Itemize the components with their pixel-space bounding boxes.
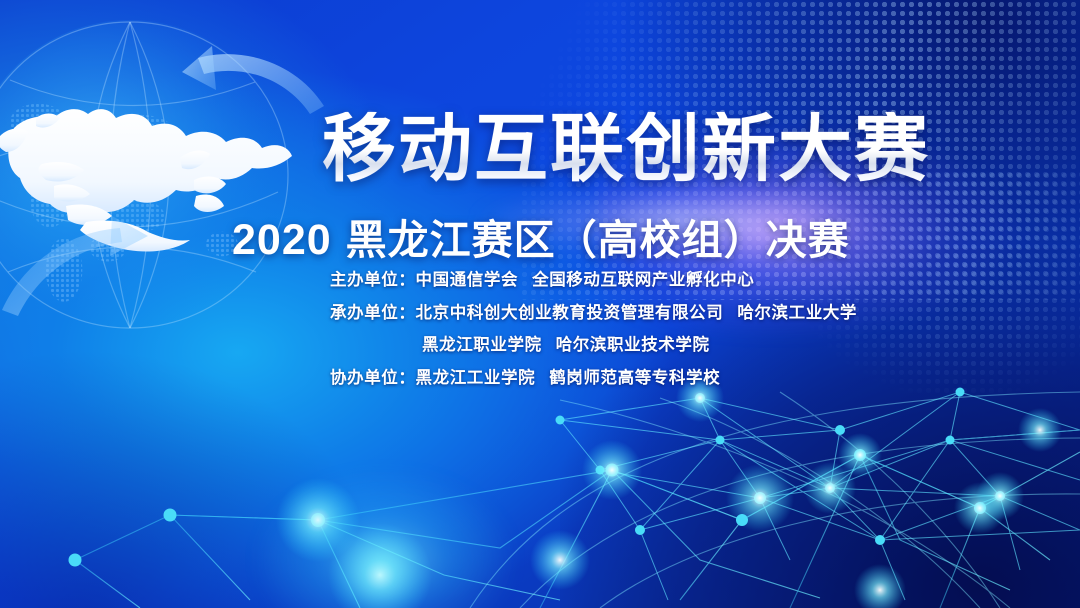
subtitle-line: 2020 黑龙江赛区（高校组）决赛 [232,206,850,266]
spacer [723,305,737,322]
organizer-entity-host-1: 中国通信学会 [416,272,519,289]
spacer [542,337,556,354]
organizer-row-supporter: 协办单位： 黑龙江工业学院 鹤岗师范高等专科学校 [330,370,857,387]
organizer-row-coorganizer-cont: 黑龙江职业学院 哈尔滨职业技术学院 [330,337,857,354]
organizer-row-coorganizer: 承办单位： 北京中科创大创业教育投资管理有限公司 哈尔滨工业大学 [330,305,857,322]
spacer [535,370,549,387]
organizer-entity-coorganizer-1: 北京中科创大创业教育投资管理有限公司 [416,305,724,322]
organizer-label-host: 主办单位： [330,272,416,289]
main-title: 移动互联创新大赛 [322,112,930,186]
spacer [518,272,532,289]
organizer-label-supporter: 协办单位： [330,370,416,387]
organizer-label-coorganizer: 承办单位： [330,305,416,322]
subtitle-text: 黑龙江赛区（高校组）决赛 [346,206,850,266]
organizer-block: 主办单位： 中国通信学会 全国移动互联网产业孵化中心 承办单位： 北京中科创大创… [330,272,857,402]
poster-content: 移动互联创新大赛 2020 黑龙江赛区（高校组）决赛 主办单位： 中国通信学会 … [0,0,1080,608]
organizer-entity-supporter-1: 黑龙江工业学院 [416,370,536,387]
organizer-entity-host-2: 全国移动互联网产业孵化中心 [532,272,754,289]
organizer-entity-coorganizer-4: 哈尔滨职业技术学院 [556,337,710,354]
subtitle-year: 2020 [232,216,332,265]
organizer-entity-coorganizer-2: 哈尔滨工业大学 [737,305,857,322]
organizer-row-host: 主办单位： 中国通信学会 全国移动互联网产业孵化中心 [330,272,857,289]
organizer-entity-supporter-2: 鹤岗师范高等专科学校 [549,370,720,387]
organizer-entity-coorganizer-3: 黑龙江职业学院 [422,337,542,354]
poster-canvas: 移动互联创新大赛 2020 黑龙江赛区（高校组）决赛 主办单位： 中国通信学会 … [0,0,1080,608]
